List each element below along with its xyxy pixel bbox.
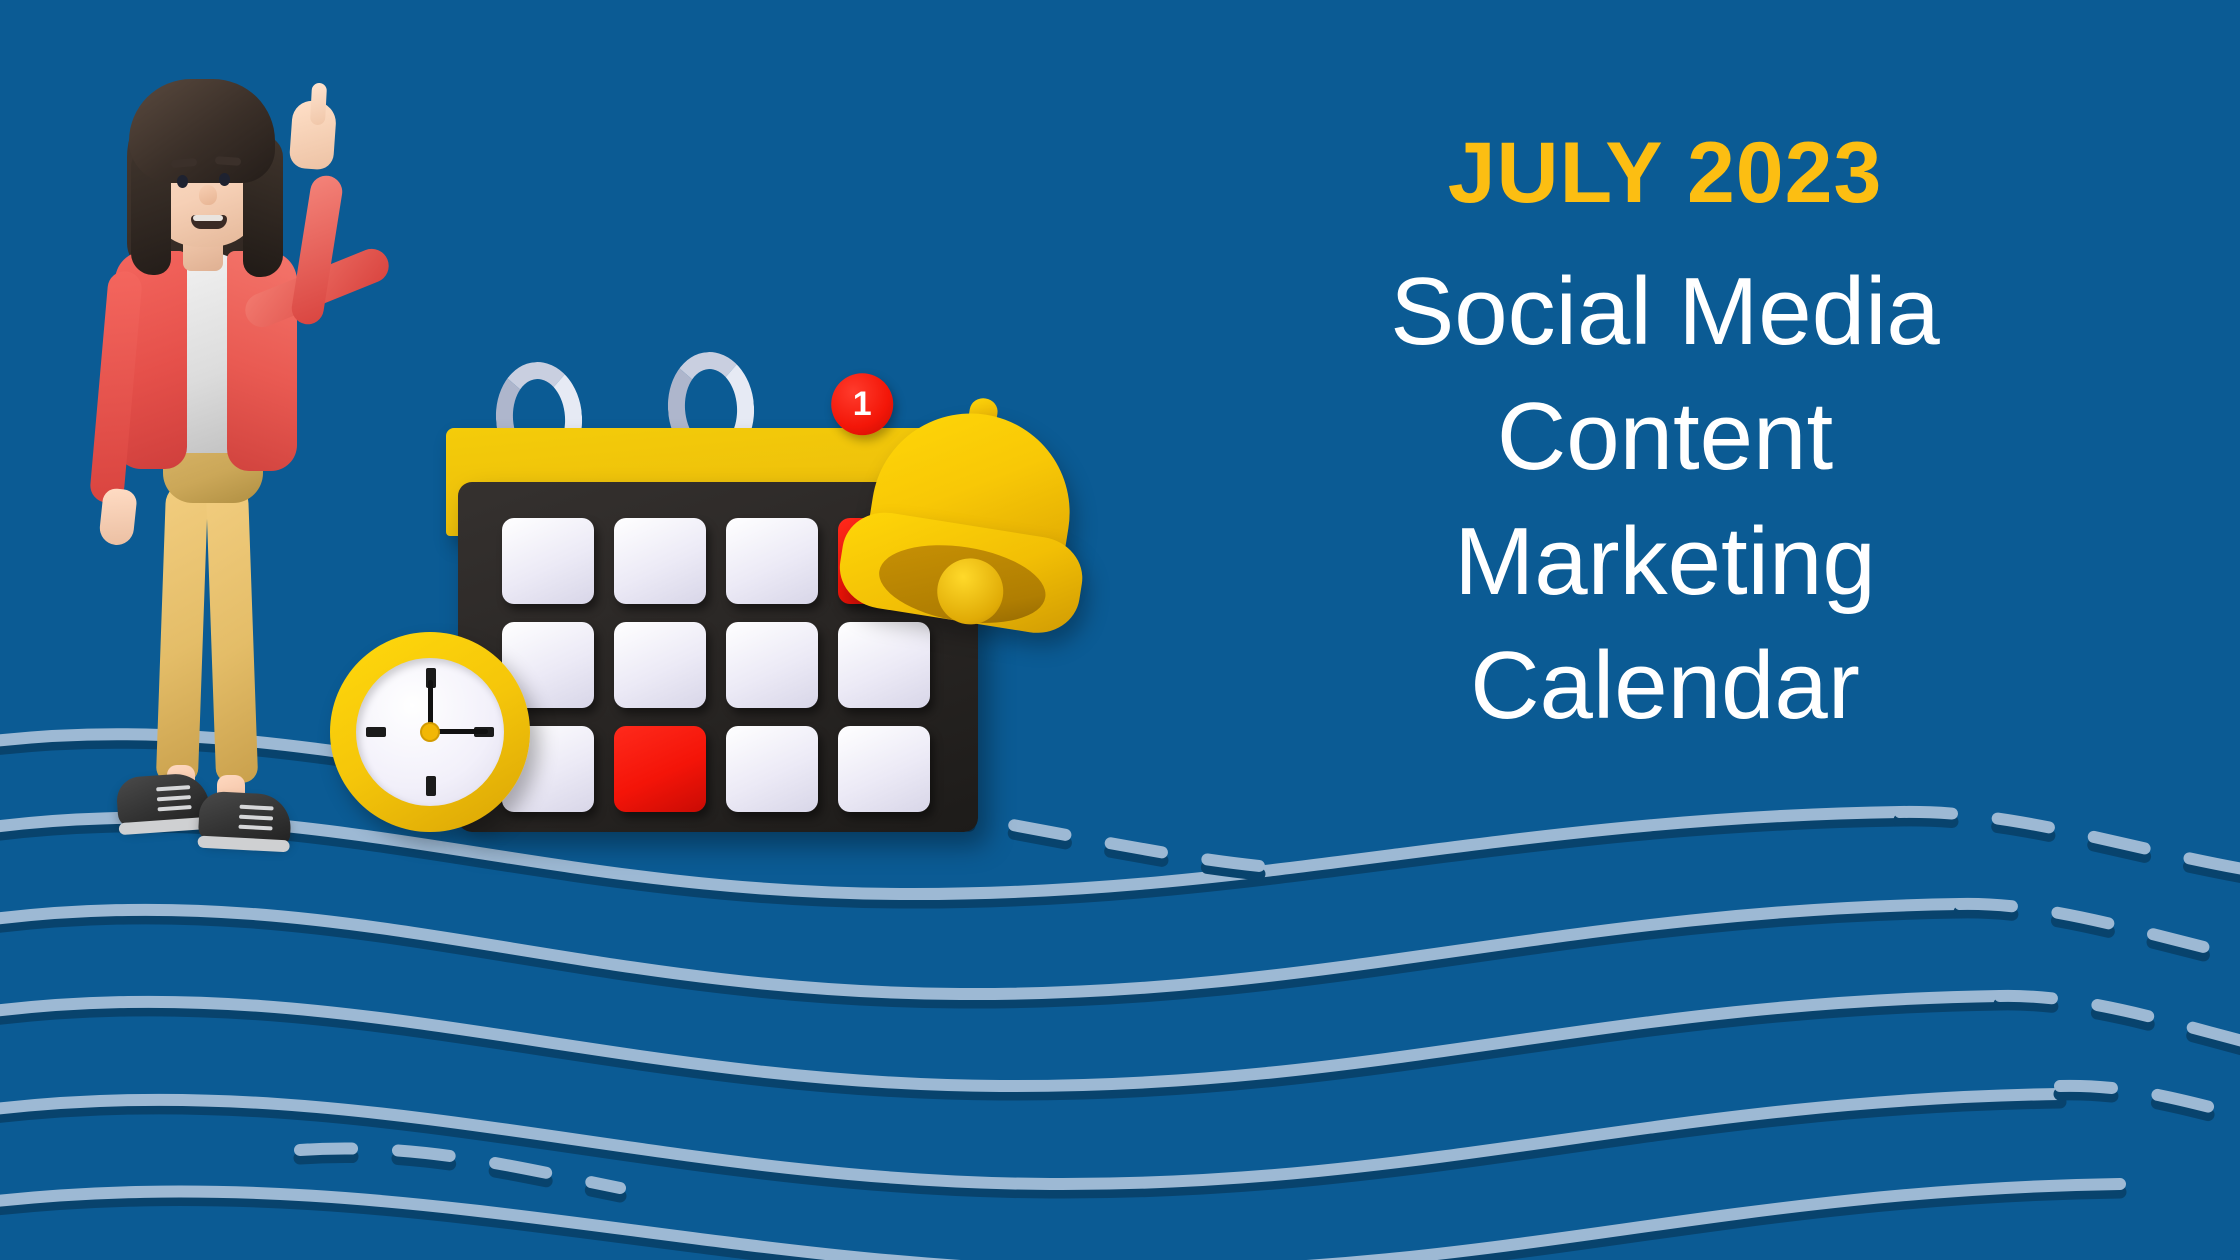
character-forearm-right: [289, 173, 344, 326]
shoe-lace: [157, 795, 191, 801]
shoe-lace: [238, 825, 272, 831]
calendar-day-cell: [726, 726, 818, 812]
clock-tick-6: [426, 776, 436, 796]
shoe-shape: [198, 791, 292, 846]
character-eyebrow-right: [215, 156, 241, 166]
headline-line-4: Calendar: [1185, 624, 2145, 749]
headline-text-block: JULY 2023 Social Media Content Marketing…: [1185, 130, 2145, 749]
leg-shape: [156, 482, 208, 783]
calendar-day-cell: [614, 622, 706, 708]
headline-line-2: Content: [1185, 375, 2145, 500]
hero-illustration: 1: [0, 0, 1160, 1260]
headline-line-1: Social Media: [1185, 250, 2145, 375]
calendar-day-cell: [838, 726, 930, 812]
calendar-day-cell: [726, 622, 818, 708]
character-leg-left: [156, 482, 208, 783]
calendar-day-cell-highlighted: [614, 726, 706, 812]
character-mouth: [191, 215, 227, 229]
shoe-sole: [197, 836, 290, 853]
character-eye-left: [177, 175, 188, 188]
shoe-lace: [156, 785, 190, 791]
calendar-day-cell: [726, 518, 818, 604]
headline-line-3: Marketing: [1185, 500, 2145, 625]
shoe-lace: [239, 815, 273, 821]
character-hand-left: [98, 487, 138, 546]
poster-canvas: 1: [0, 0, 2240, 1260]
character-shoe-right: [198, 791, 292, 846]
shoe-lace: [239, 805, 273, 811]
character-teeth: [193, 215, 223, 221]
month-year-label: JULY 2023: [1185, 130, 2145, 216]
bell-badge-count: 1: [831, 373, 893, 435]
shoe-lace: [158, 805, 192, 811]
character-eye-right: [219, 173, 230, 186]
woman-character-illustration: [95, 75, 425, 815]
character-hair-top: [129, 79, 275, 183]
character-shoe-left: [115, 772, 210, 828]
calendar-day-cell: [614, 518, 706, 604]
shoe-shape: [115, 772, 210, 828]
character-leg-right: [206, 482, 258, 783]
notification-bell-icon: 1: [830, 380, 1116, 666]
clock-minute-hand: [430, 729, 488, 734]
leg-shape: [206, 482, 258, 783]
character-pointing-finger: [310, 83, 327, 126]
character-nose: [199, 185, 217, 205]
calendar-day-cell: [502, 518, 594, 604]
